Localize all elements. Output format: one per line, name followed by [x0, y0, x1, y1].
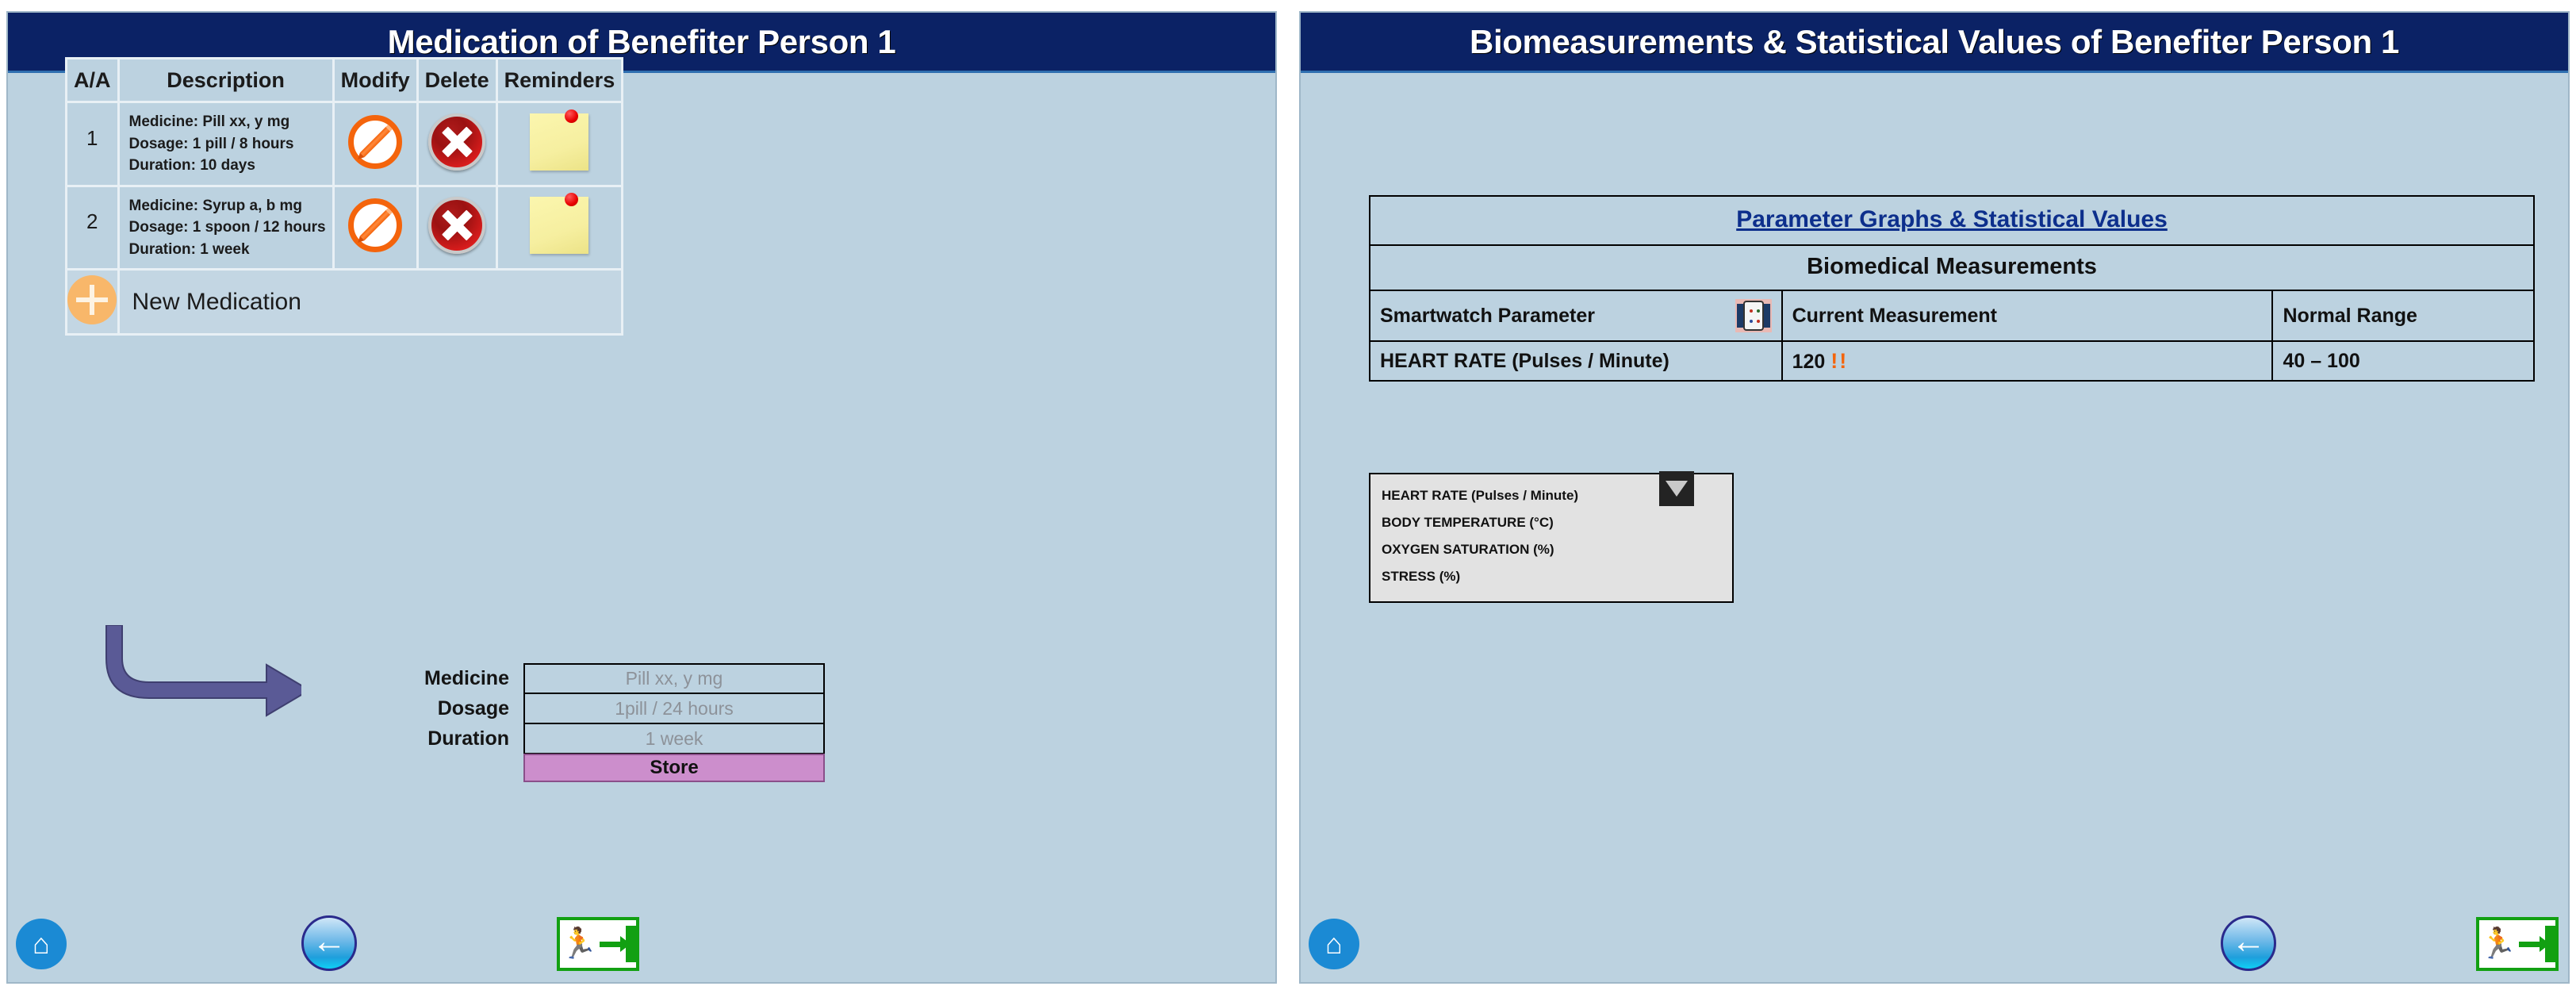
- row-duration: Duration: 1 week: [129, 239, 326, 261]
- status-badge: !!: [1830, 349, 1848, 373]
- back-arrow-icon: ←: [312, 924, 347, 959]
- table-row: 1 Medicine: Pill xx, y mg Dosage: 1 pill…: [67, 103, 621, 185]
- medicine-label: Medicine: [381, 663, 523, 693]
- biomeasurements-header-row: Smartwatch Parameter Curren: [1370, 290, 2534, 341]
- biomeasurements-panel: Biomeasurements & Statistical Values of …: [1293, 0, 2576, 990]
- row-index: 1: [67, 103, 117, 185]
- measurement-value: 120: [1792, 351, 1826, 373]
- smartwatch-icon[interactable]: [1735, 299, 1772, 332]
- new-medication-icon-cell[interactable]: [67, 271, 117, 333]
- row-modify-cell[interactable]: [335, 187, 416, 269]
- medication-panel: Medication of Benefiter Person 1 A/A Des…: [0, 0, 1283, 990]
- exit-runner-icon: 🏃: [2479, 929, 2517, 959]
- biomeasurements-title-bar: Biomeasurements & Statistical Values of …: [1301, 13, 2568, 73]
- pencil-circle-icon[interactable]: [348, 115, 402, 169]
- dropdown-option-oxygen-saturation[interactable]: OXYGEN SATURATION (%): [1380, 536, 1723, 563]
- row-dosage: Dosage: 1 spoon / 12 hours: [129, 217, 326, 239]
- biomeasurements-panel-body: Biomeasurements & Statistical Values of …: [1299, 11, 2570, 984]
- header-description: Description: [120, 59, 332, 101]
- red-x-circle-icon[interactable]: [428, 197, 485, 254]
- table-row: 2 Medicine: Syrup a, b mg Dosage: 1 spoo…: [67, 187, 621, 269]
- row-medicine: Medicine: Pill xx, y mg: [129, 111, 326, 133]
- header-reminders: Reminders: [498, 59, 622, 101]
- store-button[interactable]: Store: [523, 754, 825, 782]
- duration-input[interactable]: 1 week: [523, 723, 825, 754]
- new-medication-form: Medicine Pill xx, y mg Dosage 1pill / 24…: [381, 663, 825, 782]
- dosage-input[interactable]: 1pill / 24 hours: [523, 693, 825, 723]
- exit-runner-icon: 🏃: [560, 929, 597, 959]
- header-current-measurement: Current Measurement: [1782, 290, 2273, 341]
- row-parameter-name: HEART RATE (Pulses / Minute): [1370, 341, 1782, 381]
- dropdown-option-stress[interactable]: STRESS (%): [1380, 563, 1723, 590]
- row-medicine: Medicine: Syrup a, b mg: [129, 195, 326, 217]
- sticky-note-icon[interactable]: [530, 113, 588, 171]
- biomedical-subtitle: Biomedical Measurements: [1370, 245, 2534, 290]
- page-title: Medication of Benefiter Person 1: [388, 23, 896, 61]
- header-smartwatch-parameter: Smartwatch Parameter: [1380, 305, 1595, 328]
- biomedical-subtitle-row: Biomedical Measurements: [1370, 245, 2534, 290]
- exit-arrow-icon: [600, 942, 620, 947]
- dropdown-option-body-temperature[interactable]: BODY TEMPERATURE (°C): [1380, 509, 1723, 536]
- exit-button[interactable]: 🏃: [2476, 917, 2559, 971]
- home-icon: ⌂: [33, 930, 50, 958]
- duration-label: Duration: [381, 723, 523, 754]
- back-arrow-icon: ←: [2231, 924, 2266, 959]
- new-medication-label[interactable]: New Medication: [120, 271, 622, 333]
- plus-circle-icon[interactable]: [67, 275, 117, 324]
- medication-table-header-row: A/A Description Modify Delete Reminders: [67, 59, 621, 101]
- row-duration: Duration: 10 days: [129, 155, 326, 177]
- row-normal-range: 40 – 100: [2272, 341, 2534, 381]
- home-button[interactable]: ⌂: [16, 919, 67, 969]
- pencil-circle-icon[interactable]: [348, 198, 402, 252]
- row-reminder-cell[interactable]: [498, 187, 622, 269]
- dosage-label: Dosage: [381, 693, 523, 723]
- table-row: HEART RATE (Pulses / Minute) 120 !! 40 –…: [1370, 341, 2534, 381]
- header-normal-range: Normal Range: [2272, 290, 2534, 341]
- form-row-duration: Duration 1 week: [381, 723, 825, 754]
- row-reminder-cell[interactable]: [498, 103, 622, 185]
- form-row-medicine: Medicine Pill xx, y mg: [381, 663, 825, 693]
- panel-divider: [1283, 0, 1293, 990]
- parameter-graphs-link-row[interactable]: Parameter Graphs & Statistical Values: [1370, 196, 2534, 245]
- app-screen: Medication of Benefiter Person 1 A/A Des…: [0, 0, 2576, 990]
- medicine-input[interactable]: Pill xx, y mg: [523, 663, 825, 693]
- header-aa: A/A: [67, 59, 117, 101]
- chevron-down-icon: [1666, 481, 1688, 497]
- home-button[interactable]: ⌂: [1309, 919, 1359, 969]
- form-row-dosage: Dosage 1pill / 24 hours: [381, 693, 825, 723]
- page-title: Biomeasurements & Statistical Values of …: [1470, 23, 2399, 61]
- store-row: Store: [523, 754, 825, 782]
- new-medication-row[interactable]: New Medication: [67, 271, 621, 333]
- home-icon: ⌂: [1325, 930, 1343, 958]
- header-modify: Modify: [335, 59, 416, 101]
- dropdown-toggle[interactable]: [1659, 471, 1694, 506]
- row-description: Medicine: Syrup a, b mg Dosage: 1 spoon …: [120, 187, 332, 269]
- row-current-measurement: 120 !!: [1782, 341, 2273, 381]
- row-delete-cell[interactable]: [419, 187, 496, 269]
- back-button[interactable]: ←: [2221, 915, 2276, 971]
- back-button[interactable]: ←: [301, 915, 357, 971]
- biomeasurements-table: Parameter Graphs & Statistical Values Bi…: [1369, 195, 2535, 382]
- exit-arrow-icon: [2519, 942, 2540, 947]
- row-dosage: Dosage: 1 pill / 8 hours: [129, 133, 326, 155]
- medication-panel-body: Medication of Benefiter Person 1 A/A Des…: [6, 11, 1277, 984]
- parameter-graphs-link[interactable]: Parameter Graphs & Statistical Values: [1370, 196, 2534, 245]
- row-description: Medicine: Pill xx, y mg Dosage: 1 pill /…: [120, 103, 332, 185]
- header-smartwatch-parameter-cell[interactable]: Smartwatch Parameter: [1370, 290, 1782, 341]
- sticky-note-icon[interactable]: [530, 197, 588, 254]
- row-modify-cell[interactable]: [335, 103, 416, 185]
- row-index: 2: [67, 187, 117, 269]
- row-delete-cell[interactable]: [419, 103, 496, 185]
- red-x-circle-icon[interactable]: [428, 113, 485, 171]
- medication-table: A/A Description Modify Delete Reminders …: [65, 57, 623, 336]
- flow-arrow-icon: [95, 625, 301, 720]
- exit-button[interactable]: 🏃: [557, 917, 639, 971]
- header-delete: Delete: [419, 59, 496, 101]
